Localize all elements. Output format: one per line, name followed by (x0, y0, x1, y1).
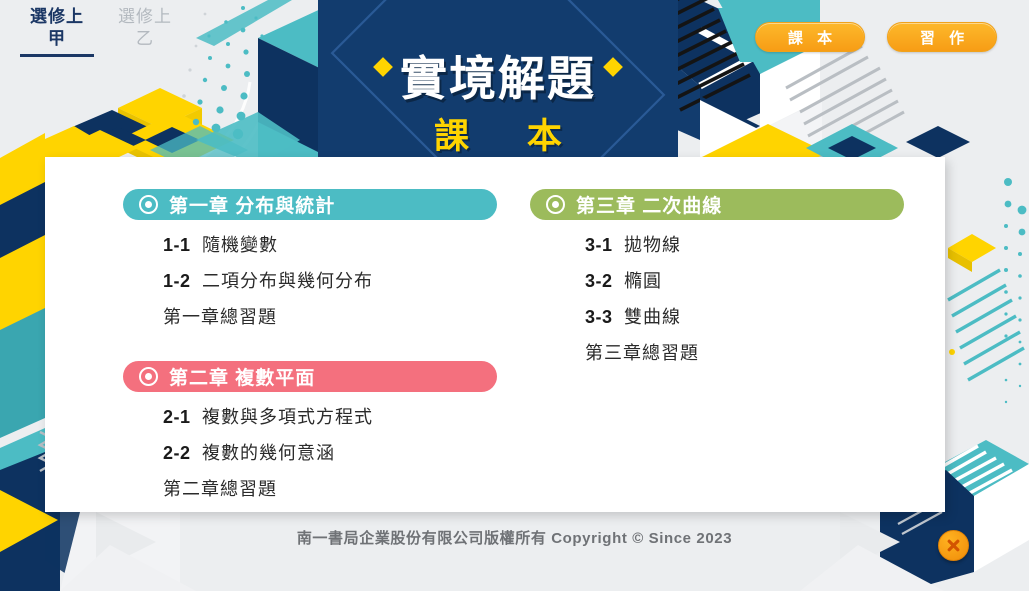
item-label: 隨機變數 (202, 231, 278, 257)
chapter-3: 第三章 二次曲線 3-1 拋物線 3-2 橢圓 3-3 雙 (530, 189, 938, 365)
item-label: 第二章總習題 (163, 475, 277, 501)
list-item[interactable]: 第三章總習題 (585, 339, 938, 365)
chapter-2-header[interactable]: 第二章 複數平面 (123, 361, 497, 392)
chapter-3-items: 3-1 拋物線 3-2 橢圓 3-3 雙曲線 第三章總習題 (585, 231, 938, 365)
toc-column-left: 第一章 分布與統計 1-1 隨機變數 1-2 二項分布與幾何分布 第一章總習題 (123, 189, 531, 511)
close-x-icon (946, 538, 961, 553)
list-item[interactable]: 1-1 隨機變數 (163, 231, 531, 257)
toc-column-right: 第三章 二次曲線 3-1 拋物線 3-2 橢圓 3-3 雙 (530, 189, 938, 375)
tab-volume-jia[interactable]: 選修上 甲 (20, 6, 94, 57)
title-banner: 實境解題 課 本 (318, 0, 678, 162)
bullseye-icon (139, 195, 158, 214)
item-label: 第三章總習題 (585, 339, 699, 365)
bullseye-icon (139, 367, 158, 386)
chapter-3-title: 第三章 二次曲線 (576, 191, 722, 218)
banner-title: 實境解題 (318, 40, 678, 109)
item-label: 橢圓 (624, 267, 662, 293)
textbook-button[interactable]: 課 本 (755, 22, 865, 52)
tab-volume-yi[interactable]: 選修上 乙 (108, 6, 182, 57)
chapter-2-title: 第二章 複數平面 (169, 363, 315, 390)
item-label: 複數與多項式方程式 (202, 403, 373, 429)
list-item[interactable]: 3-1 拋物線 (585, 231, 938, 257)
banner-subtitle: 課 本 (318, 108, 678, 159)
list-item[interactable]: 1-2 二項分布與幾何分布 (163, 267, 531, 293)
chapter-2: 第二章 複數平面 2-1 複數與多項式方程式 2-2 複數的幾何意涵 第二章總習… (123, 361, 531, 501)
volume-tabs: 選修上 甲 選修上 乙 (20, 6, 182, 57)
item-number: 3-3 (585, 307, 615, 328)
tab-volume-yi-line1: 選修上 (108, 6, 182, 28)
item-label: 二項分布與幾何分布 (202, 267, 373, 293)
chapter-1-header[interactable]: 第一章 分布與統計 (123, 189, 497, 220)
bullseye-icon (546, 195, 565, 214)
app-root: 實境解題 課 本 選修上 甲 選修上 乙 課 本 習 作 第一章 分布與統計 (0, 0, 1029, 591)
item-label: 雙曲線 (624, 303, 681, 329)
chapter-2-items: 2-1 複數與多項式方程式 2-2 複數的幾何意涵 第二章總習題 (163, 403, 531, 501)
item-number: 1-2 (163, 271, 193, 292)
workbook-button[interactable]: 習 作 (887, 22, 997, 52)
item-number: 1-1 (163, 235, 193, 256)
item-number: 2-1 (163, 407, 193, 428)
list-item[interactable]: 3-3 雙曲線 (585, 303, 938, 329)
tab-volume-jia-line2: 甲 (20, 28, 94, 50)
chapter-1-title: 第一章 分布與統計 (169, 191, 335, 218)
item-label: 複數的幾何意涵 (202, 439, 335, 465)
item-label: 第一章總習題 (163, 303, 277, 329)
item-number: 3-1 (585, 235, 615, 256)
copyright-text: 南一書局企業股份有限公司版權所有 Copyright © Since 2023 (0, 527, 1029, 548)
tab-volume-jia-line1: 選修上 (20, 6, 94, 28)
list-item[interactable]: 3-2 橢圓 (585, 267, 938, 293)
list-item[interactable]: 第一章總習題 (163, 303, 531, 329)
list-item[interactable]: 第二章總習題 (163, 475, 531, 501)
chapter-1-items: 1-1 隨機變數 1-2 二項分布與幾何分布 第一章總習題 (163, 231, 531, 329)
item-number: 3-2 (585, 271, 615, 292)
item-number: 2-2 (163, 443, 193, 464)
chapter-3-header[interactable]: 第三章 二次曲線 (530, 189, 904, 220)
tab-volume-yi-line2: 乙 (108, 28, 182, 50)
toc-columns: 第一章 分布與統計 1-1 隨機變數 1-2 二項分布與幾何分布 第一章總習題 (45, 157, 945, 512)
list-item[interactable]: 2-2 複數的幾何意涵 (163, 439, 531, 465)
list-item[interactable]: 2-1 複數與多項式方程式 (163, 403, 531, 429)
resource-type-buttons: 課 本 習 作 (755, 22, 997, 52)
chapter-1: 第一章 分布與統計 1-1 隨機變數 1-2 二項分布與幾何分布 第一章總習題 (123, 189, 531, 329)
table-of-contents-panel: 第一章 分布與統計 1-1 隨機變數 1-2 二項分布與幾何分布 第一章總習題 (45, 157, 945, 512)
item-label: 拋物線 (624, 231, 681, 257)
close-button[interactable] (938, 530, 969, 561)
